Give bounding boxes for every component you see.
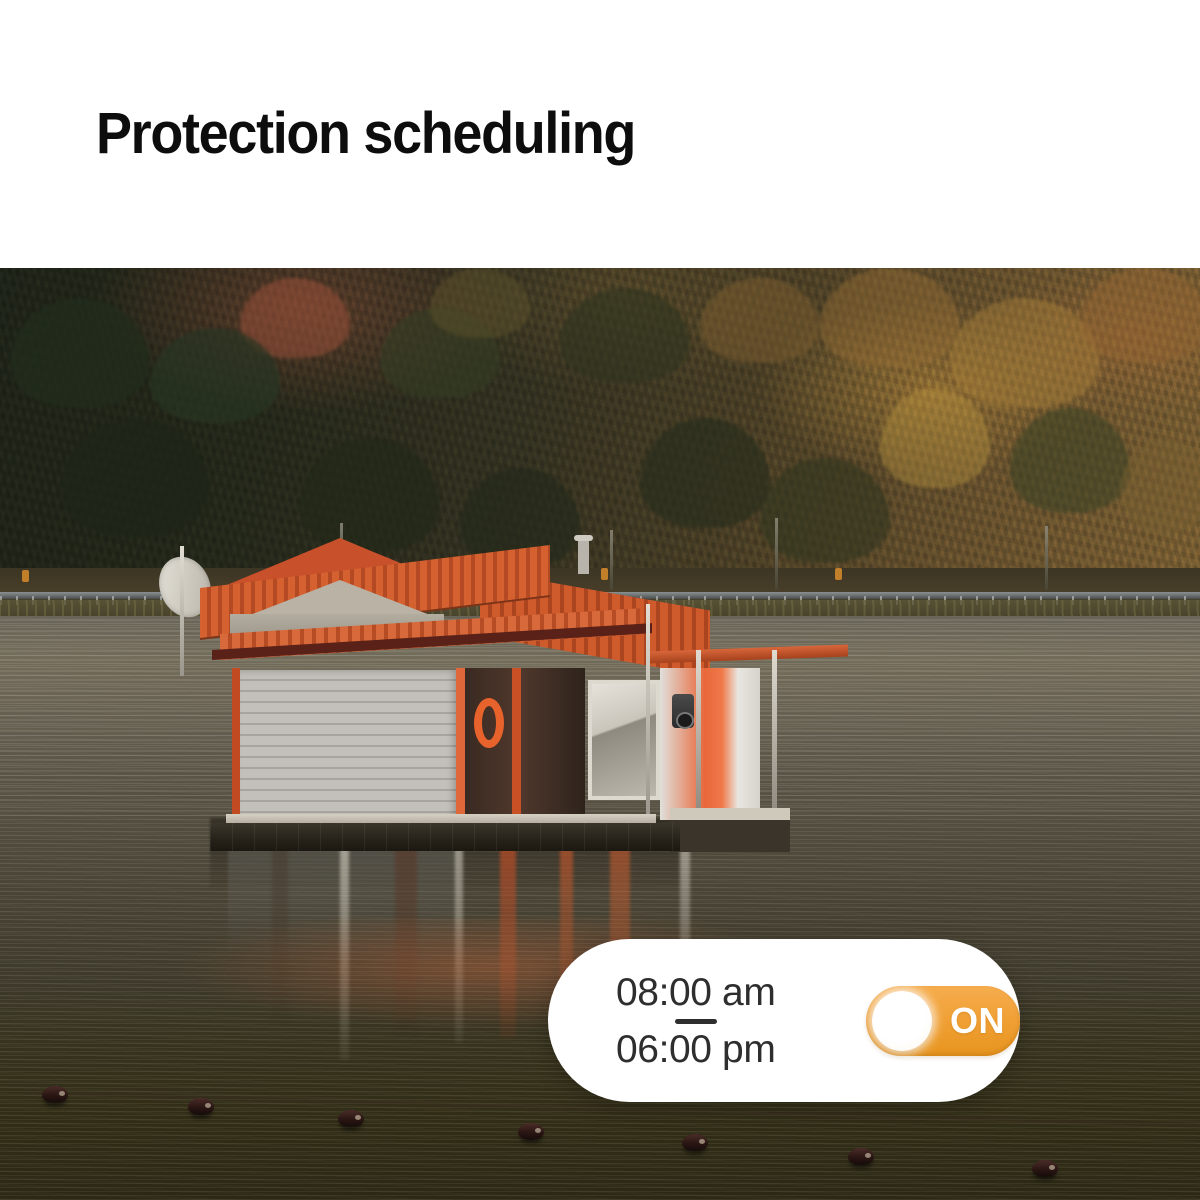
antenna-mast — [646, 604, 650, 820]
security-camera — [672, 694, 694, 728]
schedule-start-time[interactable]: 08:00 am — [616, 973, 775, 1012]
pontoon-base — [210, 823, 680, 851]
cabin-trim-right — [456, 668, 465, 822]
cabin-siding — [238, 670, 458, 820]
chimney — [578, 540, 589, 574]
antenna-mast — [180, 546, 184, 676]
schedule-toggle[interactable]: ON — [866, 986, 1020, 1056]
road-signal-light — [835, 568, 842, 580]
lake-houseboat-photo: 08:00 am 06:00 pm ON — [0, 268, 1200, 1200]
water-buoy — [682, 1134, 708, 1151]
toggle-knob[interactable] — [872, 991, 932, 1051]
houseboat — [60, 518, 760, 818]
cabin-trim-left — [232, 668, 240, 822]
water-buoy — [188, 1098, 214, 1115]
page-title: Protection scheduling — [96, 104, 635, 165]
right-dock — [670, 808, 790, 852]
schedule-card[interactable]: 08:00 am 06:00 pm ON — [548, 939, 1020, 1102]
schedule-end-time[interactable]: 06:00 pm — [616, 1030, 775, 1069]
water-buoy — [1032, 1160, 1058, 1177]
header: Protection scheduling — [0, 0, 1200, 268]
water-buoy — [848, 1148, 874, 1165]
door-post — [512, 668, 521, 822]
awning-post — [772, 650, 777, 822]
utility-pole — [1045, 526, 1048, 590]
page-root: Protection scheduling — [0, 0, 1200, 1200]
time-range[interactable]: 08:00 am 06:00 pm — [616, 973, 775, 1069]
water-buoy — [518, 1123, 544, 1140]
toggle-state-label: ON — [950, 1000, 1005, 1042]
utility-pole — [775, 518, 778, 590]
water-buoy — [338, 1110, 364, 1127]
awning-post — [696, 650, 701, 822]
right-wing-wall — [660, 668, 760, 820]
life-ring — [474, 698, 504, 748]
water-buoy — [42, 1086, 68, 1103]
road-signal-light — [22, 570, 29, 582]
time-range-separator — [675, 1019, 717, 1024]
